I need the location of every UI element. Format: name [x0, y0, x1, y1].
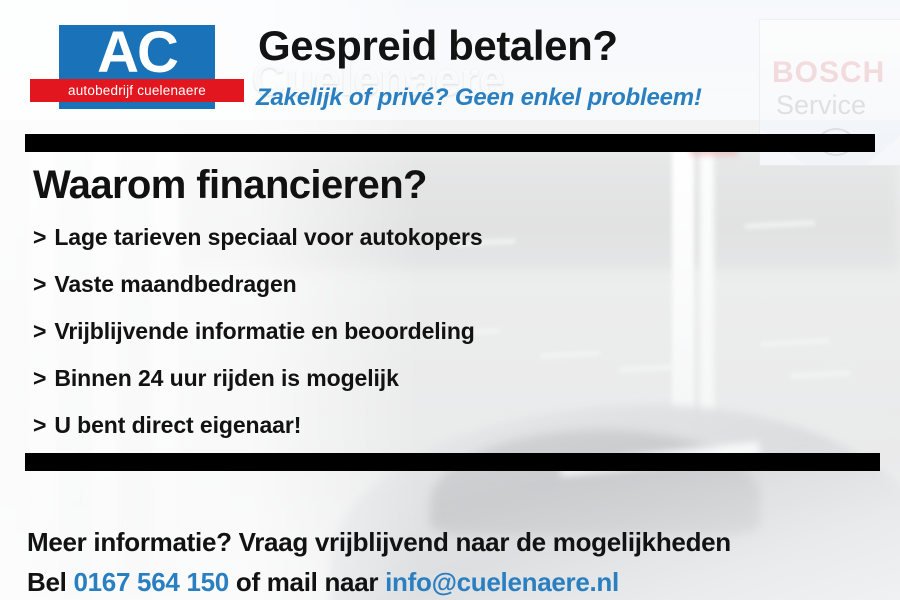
- headline: Gespreid betalen?: [258, 22, 618, 70]
- list-item-label: Vrijblijvende informatie en beoordeling: [54, 318, 474, 345]
- list-item: > U bent direct eigenaar!: [33, 412, 483, 439]
- phone-number-link[interactable]: 0167 564 150: [73, 567, 228, 597]
- list-item-label: Vaste maandbedragen: [54, 271, 296, 298]
- footer-contact-line: Bel 0167 564 150 of mail naar info@cuele…: [27, 567, 619, 598]
- finance-banner: BOSCH Service Cuelenaere AC autobedrijf …: [0, 0, 900, 600]
- chevron-right-icon: >: [33, 224, 46, 251]
- call-prefix-label: Bel: [27, 567, 73, 597]
- list-item: > Vrijblijvende informatie en beoordelin…: [33, 318, 483, 345]
- section-title: Waarom financieren?: [33, 163, 427, 208]
- chevron-right-icon: >: [33, 412, 46, 439]
- list-item: > Vaste maandbedragen: [33, 271, 483, 298]
- chevron-right-icon: >: [33, 271, 46, 298]
- list-item-label: U bent direct eigenaar!: [54, 412, 301, 439]
- divider-top: [25, 134, 875, 152]
- footer-info-text: Meer informatie? Vraag vrijblijvend naar…: [27, 527, 731, 558]
- email-address-link[interactable]: info@cuelenaere.nl: [385, 567, 619, 597]
- chevron-right-icon: >: [33, 318, 46, 345]
- list-item: > Binnen 24 uur rijden is mogelijk: [33, 365, 483, 392]
- company-logo[interactable]: AC autobedrijf cuelenaere: [59, 25, 215, 109]
- mail-middle-label: of mail naar: [229, 567, 385, 597]
- list-item-label: Lage tarieven speciaal voor autokopers: [54, 224, 482, 251]
- logo-initials: AC: [59, 23, 215, 84]
- logo-tagline: autobedrijf cuelenaere: [68, 83, 206, 98]
- subheadline: Zakelijk of privé? Geen enkel probleem!: [256, 84, 702, 112]
- divider-bottom: [25, 453, 880, 471]
- benefits-list: > Lage tarieven speciaal voor autokopers…: [33, 224, 483, 459]
- logo-tagline-bar: autobedrijf cuelenaere: [30, 79, 244, 102]
- chevron-right-icon: >: [33, 365, 46, 392]
- list-item: > Lage tarieven speciaal voor autokopers: [33, 224, 483, 251]
- list-item-label: Binnen 24 uur rijden is mogelijk: [54, 365, 398, 392]
- banner-content: AC autobedrijf cuelenaere Gespreid betal…: [0, 0, 900, 600]
